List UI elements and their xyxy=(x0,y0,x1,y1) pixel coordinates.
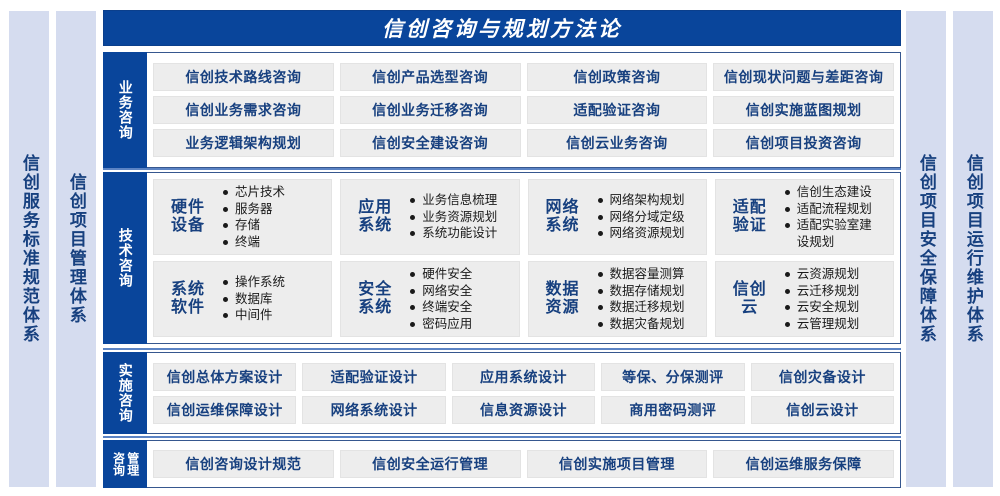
card-item-list: 芯片技术 服务器 存储 终端 xyxy=(222,184,323,250)
card-item: 操作系统 xyxy=(222,274,323,291)
row-consulting-management: 管理 咨询 信创咨询设计规范 信创安全运行管理 信创实施项目管理 信创运维服务保… xyxy=(103,440,901,488)
list-item[interactable]: 信创政策咨询 xyxy=(527,63,708,91)
card-system-software[interactable]: 系统 软件 操作系统 数据库 中间件 xyxy=(153,261,332,337)
card-item: 网络资源规划 xyxy=(597,225,698,242)
card-title: 硬件 设备 xyxy=(162,199,214,236)
list-item[interactable]: 网络系统设计 xyxy=(302,396,445,424)
methodology-diagram: 信创服务标准规范体系 信创项目管理体系 信创项目安全保障体系 信创项目运行维护体… xyxy=(0,0,1000,496)
pillar-project-operations-system: 信创项目运行维护体系 xyxy=(952,10,994,488)
card-title: 适配 验证 xyxy=(724,199,776,236)
card-adaptation-verification[interactable]: 适配 验证 信创生态建设 适配流程规划 适配实验室建 设规划 xyxy=(715,179,894,255)
pillar-project-security-system: 信创项目安全保障体系 xyxy=(905,10,947,488)
pillar-service-standard-system: 信创服务标准规范体系 xyxy=(8,10,50,488)
card-item-list: 数据容量测算 数据存储规划 数据迁移规划 数据灾备规划 xyxy=(597,266,698,332)
band-separator xyxy=(103,168,901,170)
card-item: 网络分域定级 xyxy=(597,209,698,226)
card-item: 数据存储规划 xyxy=(597,283,698,300)
card-title: 系统 软件 xyxy=(162,281,214,318)
row-label-text: 实施咨询 xyxy=(117,363,132,423)
row-body-implementation-consulting: 信创总体方案设计 适配验证设计 应用系统设计 等保、分保测评 信创灾备设计 信创… xyxy=(147,352,901,434)
card-item: 系统功能设计 xyxy=(409,225,510,242)
list-item[interactable]: 信创产品选型咨询 xyxy=(340,63,521,91)
page-title: 信创咨询与规划方法论 xyxy=(382,13,622,43)
card-item: 服务器 xyxy=(222,201,323,218)
card-title: 信创 云 xyxy=(724,281,776,318)
list-item[interactable]: 商用密码测评 xyxy=(601,396,744,424)
card-item-list: 信创生态建设 适配流程规划 适配实验室建 设规划 xyxy=(784,184,885,250)
card-data-resources[interactable]: 数据 资源 数据容量测算 数据存储规划 数据迁移规划 数据灾备规划 xyxy=(528,261,707,337)
list-item[interactable]: 信创云设计 xyxy=(751,396,894,424)
card-item: 云管理规划 xyxy=(784,316,885,333)
table-row: 信创咨询设计规范 信创安全运行管理 信创实施项目管理 信创运维服务保障 xyxy=(153,450,894,478)
list-item[interactable]: 业务逻辑架构规划 xyxy=(153,129,334,157)
card-item: 业务信息梳理 xyxy=(409,192,510,209)
row-label-text: 技术咨询 xyxy=(117,228,132,288)
card-application-system[interactable]: 应用 系统 业务信息梳理 业务资源规划 系统功能设计 xyxy=(340,179,519,255)
pillar-label: 信创项目管理体系 xyxy=(67,173,85,325)
card-network-system[interactable]: 网络 系统 网络架构规划 网络分域定级 网络资源规划 xyxy=(528,179,707,255)
card-item: 云资源规划 xyxy=(784,266,885,283)
list-item[interactable]: 信创现状问题与差距咨询 xyxy=(713,63,894,91)
list-item[interactable]: 信创实施项目管理 xyxy=(527,450,708,478)
card-hardware-devices[interactable]: 硬件 设备 芯片技术 服务器 存储 终端 xyxy=(153,179,332,255)
table-row: 信创总体方案设计 适配验证设计 应用系统设计 等保、分保测评 信创灾备设计 xyxy=(153,363,894,391)
list-item[interactable]: 信创总体方案设计 xyxy=(153,363,296,391)
row-business-consulting: 业务咨询 信创技术路线咨询 信创产品选型咨询 信创政策咨询 信创现状问题与差距咨… xyxy=(103,52,901,168)
row-label-technical-consulting: 技术咨询 xyxy=(103,172,147,344)
card-xinchuang-cloud[interactable]: 信创 云 云资源规划 云迁移规划 云安全规划 云管理规划 xyxy=(715,261,894,337)
list-item[interactable]: 适配验证设计 xyxy=(302,363,445,391)
card-title: 网络 系统 xyxy=(537,199,589,236)
list-item[interactable]: 等保、分保测评 xyxy=(601,363,744,391)
row-implementation-consulting: 实施咨询 信创总体方案设计 适配验证设计 应用系统设计 等保、分保测评 信创灾备… xyxy=(103,352,901,434)
row-body-technical-consulting: 硬件 设备 芯片技术 服务器 存储 终端 应用 系统 业务信息梳理 业务资源规划… xyxy=(147,172,901,344)
row-label-implementation-consulting: 实施咨询 xyxy=(103,352,147,434)
card-item: 适配实验室建 设规划 xyxy=(784,217,885,250)
pillar-project-management-system: 信创项目管理体系 xyxy=(55,10,97,488)
card-item: 数据容量测算 xyxy=(597,266,698,283)
list-item[interactable]: 适配验证咨询 xyxy=(527,96,708,124)
list-item[interactable]: 应用系统设计 xyxy=(452,363,595,391)
table-row: 信创技术路线咨询 信创产品选型咨询 信创政策咨询 信创现状问题与差距咨询 xyxy=(153,63,894,91)
band-separator xyxy=(103,436,901,438)
row-label-consulting-management: 管理 咨询 xyxy=(103,440,147,488)
list-item[interactable]: 信创运维服务保障 xyxy=(713,450,894,478)
card-item: 密码应用 xyxy=(409,316,510,333)
list-item[interactable]: 信创灾备设计 xyxy=(751,363,894,391)
list-item[interactable]: 信创业务迁移咨询 xyxy=(340,96,521,124)
list-item[interactable]: 信创业务需求咨询 xyxy=(153,96,334,124)
list-item[interactable]: 信创咨询设计规范 xyxy=(153,450,334,478)
card-item: 云安全规划 xyxy=(784,299,885,316)
pillar-label: 信创服务标准规范体系 xyxy=(20,154,38,344)
diagram-title-bar: 信创咨询与规划方法论 xyxy=(103,10,901,46)
pillar-label: 信创项目运行维护体系 xyxy=(964,154,982,344)
card-item: 中间件 xyxy=(222,307,323,324)
card-item: 数据灾备规划 xyxy=(597,316,698,333)
card-security-system[interactable]: 安全 系统 硬件安全 网络安全 终端安全 密码应用 xyxy=(340,261,519,337)
card-item-list: 业务信息梳理 业务资源规划 系统功能设计 xyxy=(409,192,510,242)
card-item: 云迁移规划 xyxy=(784,283,885,300)
card-title: 安全 系统 xyxy=(349,281,401,318)
card-item-list: 操作系统 数据库 中间件 xyxy=(222,274,323,324)
card-item: 芯片技术 xyxy=(222,184,323,201)
list-item[interactable]: 信创云业务咨询 xyxy=(527,129,708,157)
card-item: 信创生态建设 xyxy=(784,184,885,201)
list-item[interactable]: 信创运维保障设计 xyxy=(153,396,296,424)
card-item: 业务资源规划 xyxy=(409,209,510,226)
row-body-consulting-management: 信创咨询设计规范 信创安全运行管理 信创实施项目管理 信创运维服务保障 xyxy=(147,440,901,488)
table-row: 业务逻辑架构规划 信创安全建设咨询 信创云业务咨询 信创项目投资咨询 xyxy=(153,129,894,157)
row-technical-consulting: 技术咨询 硬件 设备 芯片技术 服务器 存储 终端 应用 系统 业务信息梳理 xyxy=(103,172,901,344)
card-row: 系统 软件 操作系统 数据库 中间件 安全 系统 硬件安全 网络安全 终端安全 … xyxy=(153,261,894,337)
card-item: 存储 xyxy=(222,217,323,234)
list-item[interactable]: 信创项目投资咨询 xyxy=(713,129,894,157)
row-label-business-consulting: 业务咨询 xyxy=(103,52,147,168)
row-label-text-consulting: 咨询 xyxy=(111,452,124,476)
card-item: 适配流程规划 xyxy=(784,201,885,218)
card-title: 数据 资源 xyxy=(537,281,589,318)
pillar-label: 信创项目安全保障体系 xyxy=(917,154,935,344)
card-item-list: 云资源规划 云迁移规划 云安全规划 云管理规划 xyxy=(784,266,885,332)
list-item[interactable]: 信创技术路线咨询 xyxy=(153,63,334,91)
card-item: 数据迁移规划 xyxy=(597,299,698,316)
row-body-business-consulting: 信创技术路线咨询 信创产品选型咨询 信创政策咨询 信创现状问题与差距咨询 信创业… xyxy=(147,52,901,168)
card-item: 终端 xyxy=(222,234,323,251)
card-item-list: 硬件安全 网络安全 终端安全 密码应用 xyxy=(409,266,510,332)
list-item[interactable]: 信创安全运行管理 xyxy=(340,450,521,478)
table-row: 信创业务需求咨询 信创业务迁移咨询 适配验证咨询 信创实施蓝图规划 xyxy=(153,96,894,124)
list-item[interactable]: 信创实施蓝图规划 xyxy=(713,96,894,124)
band-separator xyxy=(103,348,901,350)
card-item: 硬件安全 xyxy=(409,266,510,283)
card-item-list: 网络架构规划 网络分域定级 网络资源规划 xyxy=(597,192,698,242)
card-row: 硬件 设备 芯片技术 服务器 存储 终端 应用 系统 业务信息梳理 业务资源规划… xyxy=(153,179,894,255)
list-item[interactable]: 信息资源设计 xyxy=(452,396,595,424)
row-label-text: 业务咨询 xyxy=(117,80,132,140)
row-label-text-management: 管理 xyxy=(126,452,139,476)
table-row: 信创运维保障设计 网络系统设计 信息资源设计 商用密码测评 信创云设计 xyxy=(153,396,894,424)
card-item: 网络安全 xyxy=(409,283,510,300)
card-title: 应用 系统 xyxy=(349,199,401,236)
card-item: 网络架构规划 xyxy=(597,192,698,209)
card-item: 终端安全 xyxy=(409,299,510,316)
card-item: 数据库 xyxy=(222,291,323,308)
list-item[interactable]: 信创安全建设咨询 xyxy=(340,129,521,157)
